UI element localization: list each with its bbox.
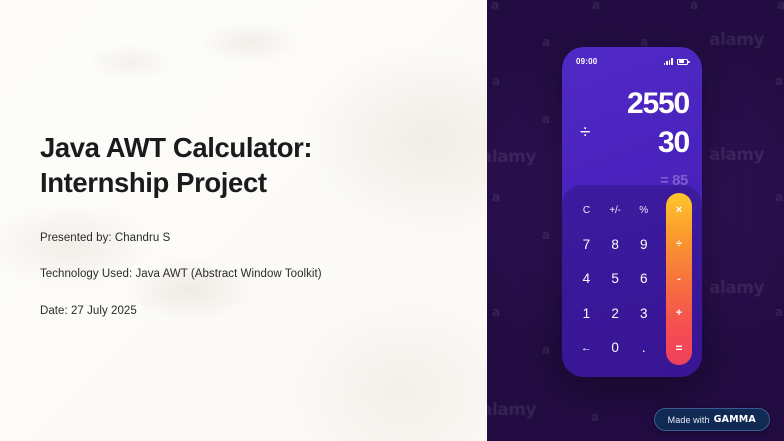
badge-made-with-label: Made with	[668, 415, 710, 425]
key-0[interactable]: 0	[601, 331, 630, 365]
key-percent[interactable]: %	[629, 193, 658, 227]
watermark-letter: a	[492, 74, 500, 88]
slide-text-block: Java AWT Calculator: Internship Project …	[40, 130, 460, 319]
page-title: Java AWT Calculator: Internship Project	[40, 130, 370, 200]
slide-right-panel: a a a a a a alamy a a a a a a alamy a a …	[487, 0, 784, 441]
made-with-gamma-badge[interactable]: Made with GAMMA	[654, 408, 770, 431]
key-multiply[interactable]: ×	[666, 193, 692, 227]
watermark-letter: a	[591, 410, 599, 424]
key-9[interactable]: 9	[629, 227, 658, 261]
watermark-letter: a	[542, 343, 550, 357]
title-line-2: Internship Project	[40, 165, 370, 200]
status-icon-group	[664, 58, 688, 65]
key-subtract[interactable]: -	[666, 262, 692, 296]
key-decimal[interactable]: .	[629, 331, 658, 365]
operator-key-column: × ÷ - + =	[666, 193, 692, 365]
key-clear[interactable]: C	[572, 193, 601, 227]
presentation-slide: Java AWT Calculator: Internship Project …	[0, 0, 784, 441]
date-text: Date: 27 July 2025	[40, 303, 460, 319]
watermark-letter: a	[491, 0, 499, 12]
watermark-letter: a	[775, 74, 783, 88]
key-8[interactable]: 8	[601, 227, 630, 261]
display-operand-1: 2550	[627, 89, 689, 119]
key-divide[interactable]: ÷	[666, 227, 692, 261]
watermark-word: alamy	[487, 147, 536, 167]
signal-bars-icon	[664, 58, 673, 65]
watermark-letter: a	[775, 190, 783, 204]
number-key-grid: C +/- % 7 8 9 4 5 6 1 2 3 ← 0 .	[572, 193, 658, 365]
key-7[interactable]: 7	[572, 227, 601, 261]
technology-used-text: Technology Used: Java AWT (Abstract Wind…	[40, 266, 460, 282]
watermark-letter: a	[542, 35, 550, 49]
key-6[interactable]: 6	[629, 262, 658, 296]
status-clock: 09:00	[576, 57, 597, 66]
watermark-letter: a	[690, 0, 698, 12]
slide-left-panel: Java AWT Calculator: Internship Project …	[0, 0, 487, 441]
watermark-letter: a	[542, 112, 550, 126]
key-3[interactable]: 3	[629, 296, 658, 330]
watermark-letter: a	[492, 190, 500, 204]
title-line-1: Java AWT Calculator:	[40, 132, 312, 163]
display-operator: ÷	[580, 123, 590, 142]
watermark-word: alamy	[709, 145, 764, 165]
key-add[interactable]: +	[666, 296, 692, 330]
phone-status-bar: 09:00	[562, 57, 702, 66]
watermark-letter: a	[542, 228, 550, 242]
badge-brand-label: GAMMA	[714, 414, 756, 425]
calculator-keypad: C +/- % 7 8 9 4 5 6 1 2 3 ← 0 .	[562, 185, 702, 377]
watermark-word: alamy	[709, 278, 764, 298]
key-backspace[interactable]: ←	[572, 331, 601, 365]
key-5[interactable]: 5	[601, 262, 630, 296]
watermark-letter: a	[592, 0, 600, 12]
key-plus-minus[interactable]: +/-	[601, 193, 630, 227]
key-1[interactable]: 1	[572, 296, 601, 330]
watermark-letter: a	[775, 305, 783, 319]
watermark-letter: a	[492, 305, 500, 319]
battery-icon	[677, 59, 688, 65]
watermark-word: alamy	[709, 30, 764, 50]
key-4[interactable]: 4	[572, 262, 601, 296]
presented-by-text: Presented by: Chandru S	[40, 230, 460, 246]
key-2[interactable]: 2	[601, 296, 630, 330]
key-equals[interactable]: =	[666, 331, 692, 365]
calculator-phone-mockup: 09:00 ÷ 2550 30 = 85 C +/- % 7 8	[562, 47, 702, 377]
display-operand-2: 30	[658, 128, 689, 158]
watermark-letter: a	[777, 0, 784, 12]
watermark-word: alamy	[487, 400, 536, 420]
